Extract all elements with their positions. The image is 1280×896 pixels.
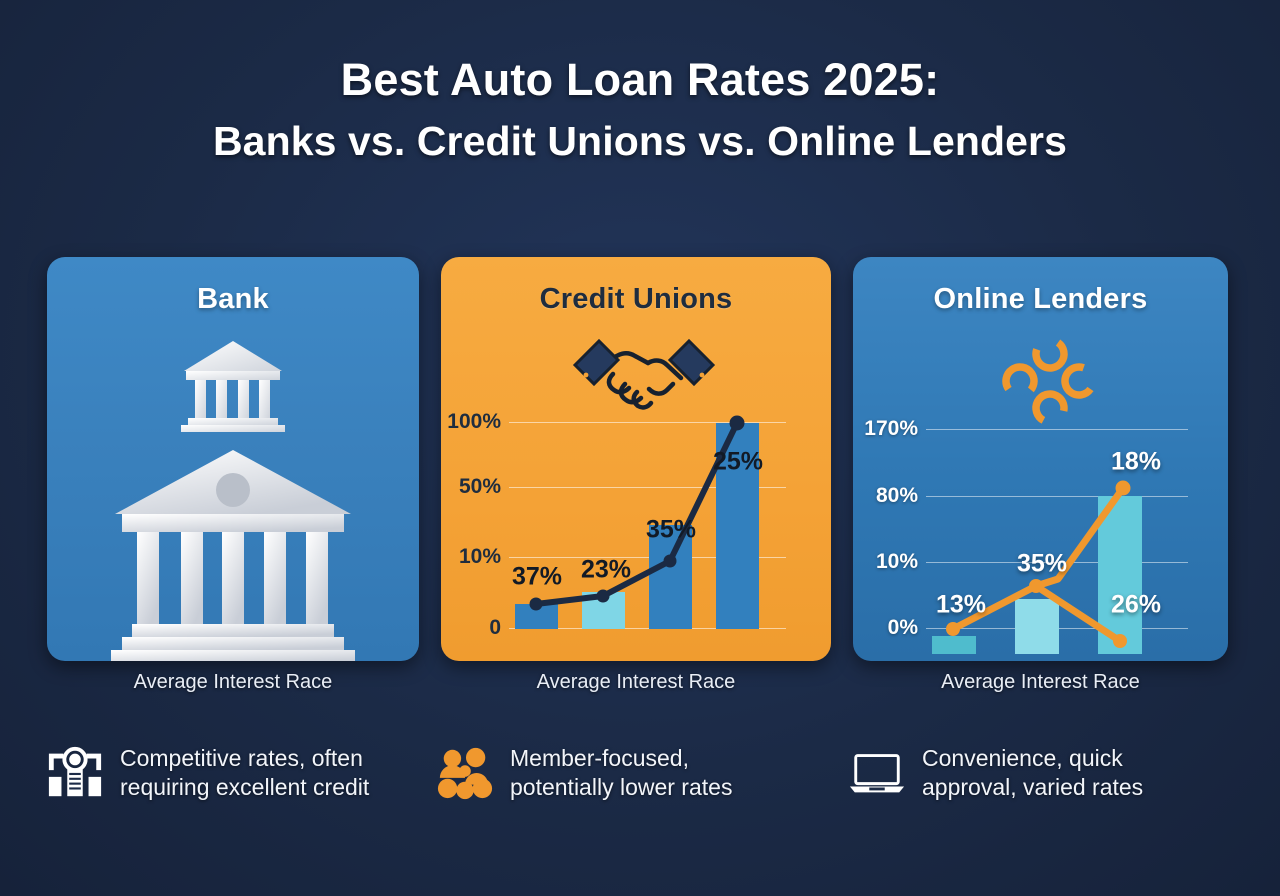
caption-bank: Average Interest Race: [47, 671, 419, 694]
title-line-2: Banks vs. Credit Unions vs. Online Lende…: [0, 120, 1280, 163]
data-label-3: 35%: [646, 516, 696, 545]
caption-credit-unions: Average Interest Race: [441, 671, 831, 694]
legend-line-2: approval, varied rates: [922, 773, 1143, 802]
panel-online-lenders[interactable]: Online Lenders 170% 80% 10% 0%: [853, 257, 1228, 661]
panel-bank[interactable]: Bank: [47, 257, 419, 661]
legend-line-1: Competitive rates, often: [120, 744, 369, 773]
data-label-4: 18%: [1111, 448, 1161, 477]
panel-bank-title: Bank: [47, 283, 419, 316]
trend-line-online-lenders: [853, 257, 1228, 661]
legend-text-bank: Competitive rates, often requiring excel…: [120, 744, 369, 803]
panel-credit-unions[interactable]: Credit Unions: [441, 257, 831, 661]
legend-item-bank[interactable]: Competitive rates, often requiring excel…: [46, 744, 446, 803]
data-label-3: 26%: [1111, 591, 1161, 620]
data-label-2: 35%: [1017, 550, 1067, 579]
bank-building-icon: [178, 333, 288, 433]
legend-row: Competitive rates, often requiring excel…: [0, 744, 1280, 844]
credit-unions-chart: 100% 50% 10% 0 37% 23: [441, 257, 831, 661]
data-label-1: 13%: [936, 591, 986, 620]
bank-building-large-icon: [108, 442, 358, 661]
legend-item-credit-unions[interactable]: Member-focused, potentially lower rates: [436, 744, 836, 803]
laptop-icon: [848, 744, 906, 802]
panels-row: Bank: [0, 257, 1280, 667]
data-label-1: 37%: [512, 563, 562, 592]
legend-text-credit-unions: Member-focused, potentially lower rates: [510, 744, 732, 803]
legend-line-1: Member-focused,: [510, 744, 732, 773]
trend-line-credit-unions: [441, 257, 831, 661]
caption-online-lenders: Average Interest Race: [853, 671, 1228, 694]
page-title: Best Auto Loan Rates 2025: Banks vs. Cre…: [0, 56, 1280, 163]
legend-text-online-lenders: Convenience, quick approval, varied rate…: [922, 744, 1143, 803]
legend-item-online-lenders[interactable]: Convenience, quick approval, varied rate…: [848, 744, 1248, 803]
bank-vault-icon: [46, 744, 104, 802]
legend-line-1: Convenience, quick: [922, 744, 1143, 773]
people-group-icon: [436, 744, 494, 802]
online-lenders-chart: 170% 80% 10% 0% 13%: [853, 257, 1228, 661]
legend-line-2: requiring excellent credit: [120, 773, 369, 802]
infographic-root: Best Auto Loan Rates 2025: Banks vs. Cre…: [0, 0, 1280, 896]
title-line-1: Best Auto Loan Rates 2025:: [0, 56, 1280, 103]
data-label-4: 25%: [713, 448, 763, 477]
legend-line-2: potentially lower rates: [510, 773, 732, 802]
data-label-2: 23%: [581, 556, 631, 585]
